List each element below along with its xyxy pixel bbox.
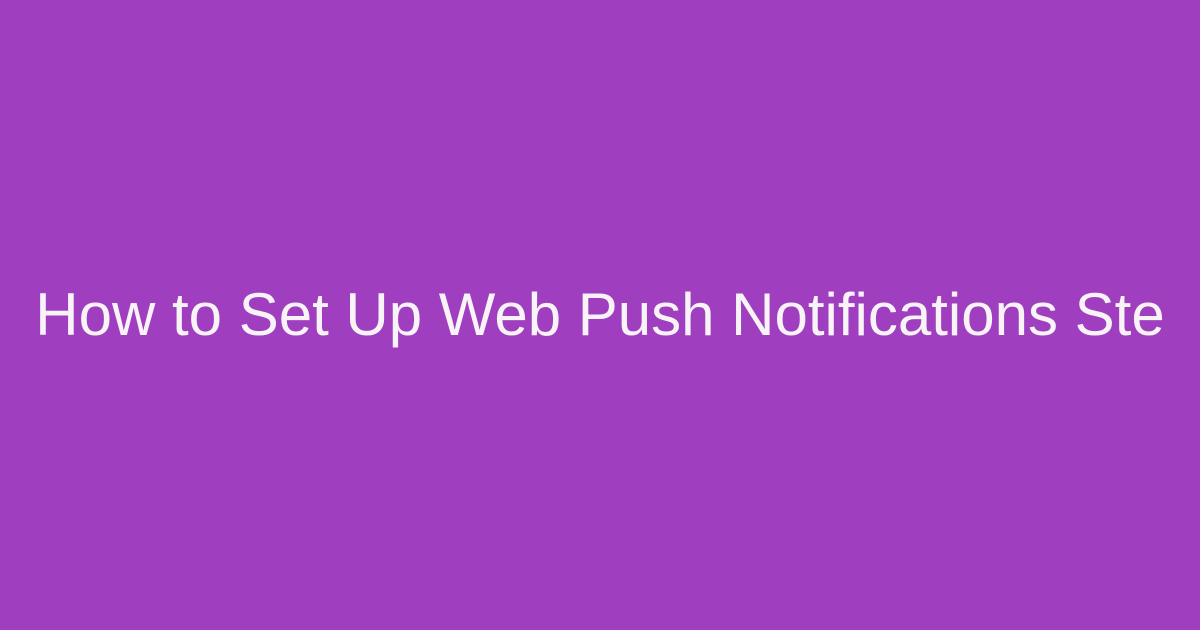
card-content-container: How to Set Up Web Push Notifications Ste xyxy=(100,279,1100,351)
page-title: How to Set Up Web Push Notifications Ste xyxy=(35,279,1164,351)
social-share-card: How to Set Up Web Push Notifications Ste xyxy=(0,0,1200,630)
